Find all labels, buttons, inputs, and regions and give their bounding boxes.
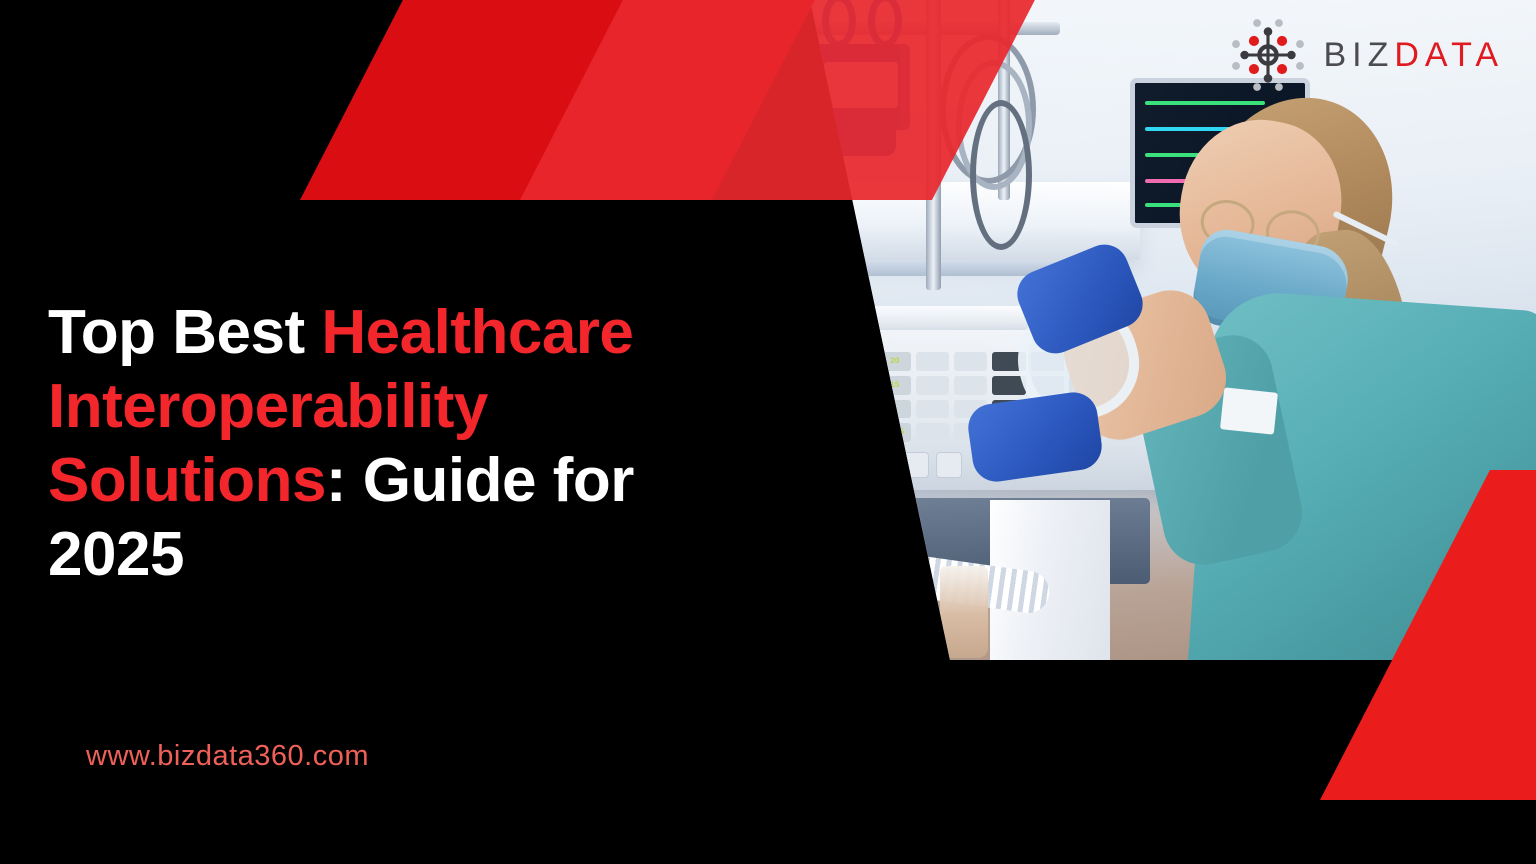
- promo-banner: 20 20 40 15 15 50 5 5 0.25 0.25: [0, 0, 1536, 864]
- website-url[interactable]: www.bizdata360.com: [86, 740, 369, 773]
- wall-outlet-icon: [736, 196, 788, 240]
- blue-strap: [826, 126, 896, 156]
- breathing-tube: [970, 100, 1032, 250]
- wall-port-icon: [800, 198, 852, 242]
- page-title: Top Best Healthcare Interoperability Sol…: [48, 296, 708, 592]
- nurse-id-badge: [1220, 387, 1278, 434]
- wall-rail: [640, 180, 1140, 260]
- bizdata-network-logo-icon: [1229, 16, 1307, 94]
- bizdata-logo-text: BIZDATA: [1323, 38, 1504, 72]
- red-diagonal-shape-top-left: [300, 0, 820, 200]
- blue-equipment-holder: [812, 44, 910, 130]
- headline-segment-plain-1: Top Best: [48, 298, 321, 367]
- fluid-container: [940, 566, 988, 658]
- logo-text-data: DATA: [1394, 36, 1504, 74]
- iv-pole: [926, 0, 941, 290]
- hero-photo: 20 20 40 15 15 50 5 5 0.25 0.25: [640, 0, 1536, 660]
- logo-text-biz: BIZ: [1323, 36, 1394, 74]
- hero-photo-image: 20 20 40 15 15 50 5 5 0.25 0.25: [640, 0, 1536, 660]
- bizdata-logo[interactable]: BIZDATA: [1229, 16, 1504, 94]
